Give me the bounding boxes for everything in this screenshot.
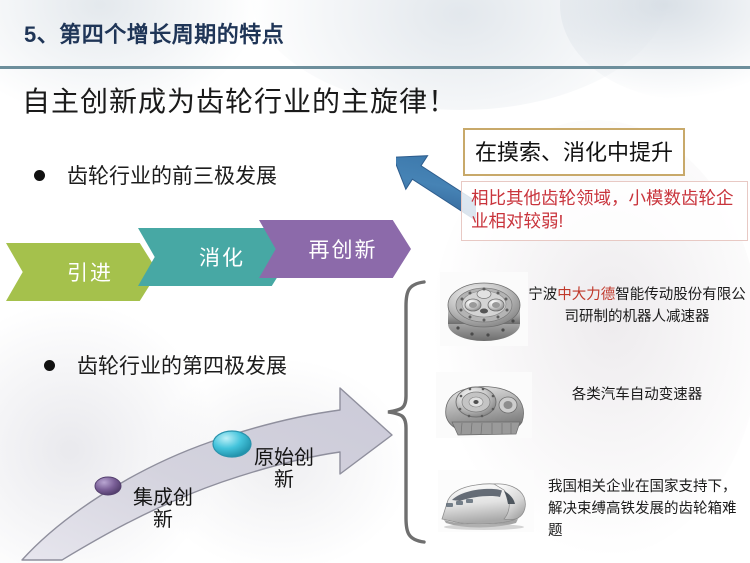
bullet-label: 齿轮行业的第四极发展 — [77, 350, 287, 380]
main-heading: 自主创新成为齿轮行业的主旋律！ — [22, 80, 457, 120]
slide-header: 5、第四个增长周期的特点 — [0, 0, 750, 66]
slide-canvas: 5、第四个增长周期的特点 自主创新成为齿轮行业的主旋律！ 齿轮行业的前三极发展 … — [0, 0, 750, 563]
chevron-label: 引进 — [67, 257, 113, 287]
annotation-prefix: 宁波 — [528, 287, 557, 303]
bullet-item-first-three-poles: 齿轮行业的前三极发展 — [34, 160, 277, 190]
callout-box-improving: 在摸索、消化中提升 — [463, 128, 685, 176]
high-speed-train-photo — [438, 470, 534, 532]
annotation-robot-reducer: 宁波中大力德智能传动股份有限公司研制的机器人减速器 — [528, 285, 746, 329]
bullet-label: 齿轮行业的前三极发展 — [67, 160, 277, 190]
title-divider — [0, 66, 750, 69]
bullet-item-fourth-pole: 齿轮行业的第四极发展 — [44, 350, 287, 380]
chevron-label: 消化 — [199, 242, 245, 272]
chevron-step-reinnovate: 再创新 — [259, 220, 411, 278]
growth-label-original-innovation: 原始创 新 — [236, 447, 332, 492]
bullet-dot-icon — [44, 360, 55, 371]
annotation-train: 我国相关企业在国家支持下，解决束缚高铁发展的齿轮箱难题 — [548, 477, 744, 542]
chevron-label: 再创新 — [309, 234, 378, 264]
growth-label-integrated-innovation: 集成创 新 — [118, 487, 208, 532]
right-curly-brace-icon — [382, 278, 430, 546]
page-title: 5、第四个增长周期的特点 — [24, 17, 284, 49]
robot-reducer-photo — [440, 272, 528, 346]
annotation-transmission: 各类汽车自动变速器 — [528, 385, 746, 407]
chevron-step-introduce: 引进 — [6, 243, 158, 301]
bullet-dot-icon — [34, 170, 45, 181]
growth-curve-arrow-icon — [0, 378, 400, 563]
annotation-highlight: 中大力德 — [557, 287, 615, 303]
note-box-small-module-weak: 相比其他齿轮领域，小模数齿轮企业相对较弱! — [461, 181, 748, 241]
automatic-transmission-photo — [436, 372, 532, 438]
